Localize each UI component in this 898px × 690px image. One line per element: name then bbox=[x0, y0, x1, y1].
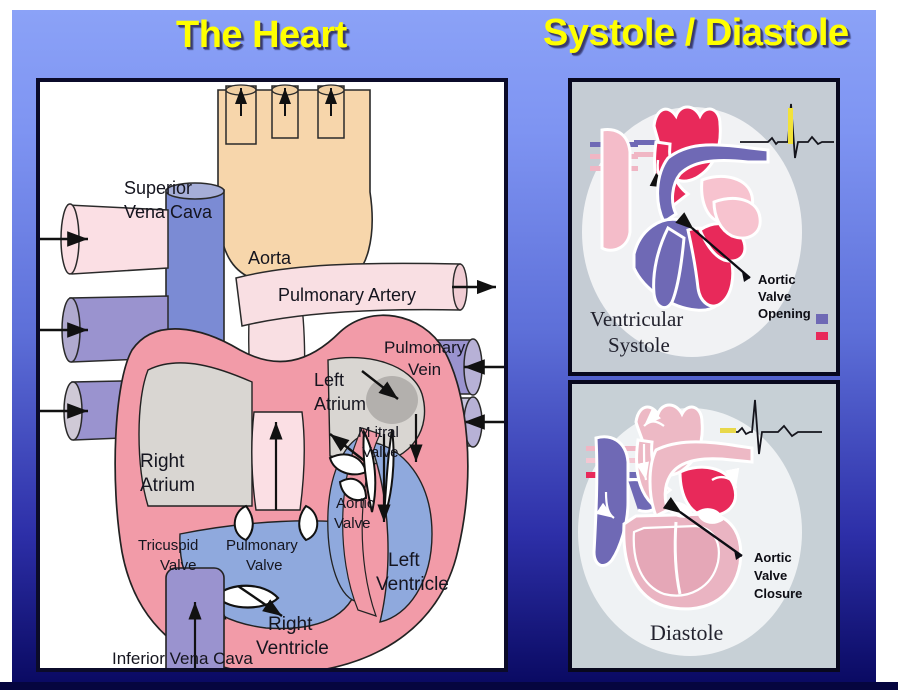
label-aorta: Aorta bbox=[248, 248, 292, 268]
label-right-ventricle-line1: Right bbox=[268, 614, 313, 635]
diastole-illustration: Aortic Valve Closure Diastole bbox=[572, 384, 836, 668]
label-pulmonary-vein-line1: Pulmonary bbox=[384, 338, 466, 357]
label-superior-vena-cava-line2: Vena Cava bbox=[124, 202, 213, 222]
annotation-diastole-line3: Closure bbox=[754, 586, 802, 601]
ecg-marker-diastole bbox=[720, 428, 736, 433]
label-left-ventricle-line1: Left bbox=[388, 550, 420, 571]
ventricular-systole-panel: Aortic Valve Opening Ventricular Systole bbox=[568, 78, 840, 376]
heart-anatomy-panel: Superior Vena Cava Aorta Pulmonary Arter… bbox=[36, 78, 508, 672]
label-mitral-valve-line2: Valve bbox=[362, 444, 398, 461]
label-pulmonary-artery: Pulmonary Artery bbox=[278, 285, 416, 305]
caption-diastole: Diastole bbox=[650, 620, 723, 645]
label-pulmonary-valve-line2: Valve bbox=[246, 557, 282, 574]
label-aortic-valve-line1: Aortic bbox=[336, 495, 375, 512]
label-pulmonary-valve-line1: Pulmonary bbox=[226, 537, 298, 554]
page-title-left: The Heart bbox=[176, 14, 347, 57]
label-inferior-vena-cava: Inferior Vena Cava bbox=[112, 649, 253, 668]
label-pulmonary-vein-line2: Vein bbox=[408, 360, 441, 379]
legend-chip-artery-systole bbox=[816, 332, 828, 340]
label-superior-vena-cava-line1: Superior bbox=[124, 178, 192, 198]
legend-chip-vein-systole bbox=[816, 314, 828, 324]
label-tricuspid-valve-line2: Valve bbox=[160, 557, 196, 574]
label-left-ventricle-line2: Ventricle bbox=[376, 574, 449, 595]
caption-systole-line2: Systole bbox=[608, 333, 670, 357]
heart-anatomy-illustration: Superior Vena Cava Aorta Pulmonary Arter… bbox=[40, 82, 504, 668]
ecg-marker-systole bbox=[788, 108, 793, 144]
slide-canvas: The Heart Systole / Diastole bbox=[0, 0, 898, 690]
label-right-atrium-line1: Right bbox=[140, 451, 185, 472]
label-tricuspid-valve-line1: Tricuspid bbox=[138, 537, 198, 554]
annotation-systole-line2: Valve bbox=[758, 289, 791, 304]
left-atrium-shading bbox=[366, 376, 418, 424]
page-title-right: Systole / Diastole bbox=[543, 12, 849, 55]
slide-bottom-edge bbox=[0, 682, 898, 690]
label-aortic-valve-line2: Valve bbox=[334, 515, 370, 532]
label-right-ventricle-line2: Ventricle bbox=[256, 638, 329, 659]
annotation-diastole-line1: Aortic bbox=[754, 550, 792, 565]
annotation-systole-line3: Opening bbox=[758, 306, 811, 321]
systole-illustration: Aortic Valve Opening Ventricular Systole bbox=[572, 82, 836, 372]
label-left-atrium-line1: Left bbox=[314, 370, 344, 390]
label-left-atrium-line2: Atrium bbox=[314, 394, 366, 414]
label-mitral-valve-line1: M itral bbox=[358, 424, 399, 441]
label-right-atrium-line2: Atrium bbox=[140, 475, 195, 496]
rv-outflow-tract bbox=[252, 412, 304, 510]
vena-cava-systole bbox=[602, 130, 630, 251]
annotation-systole-line1: Aortic bbox=[758, 272, 796, 287]
slide-left-margin bbox=[0, 0, 12, 690]
diastole-panel: Aortic Valve Closure Diastole bbox=[568, 380, 840, 672]
annotation-diastole-line2: Valve bbox=[754, 568, 787, 583]
caption-systole-line1: Ventricular bbox=[590, 307, 683, 331]
